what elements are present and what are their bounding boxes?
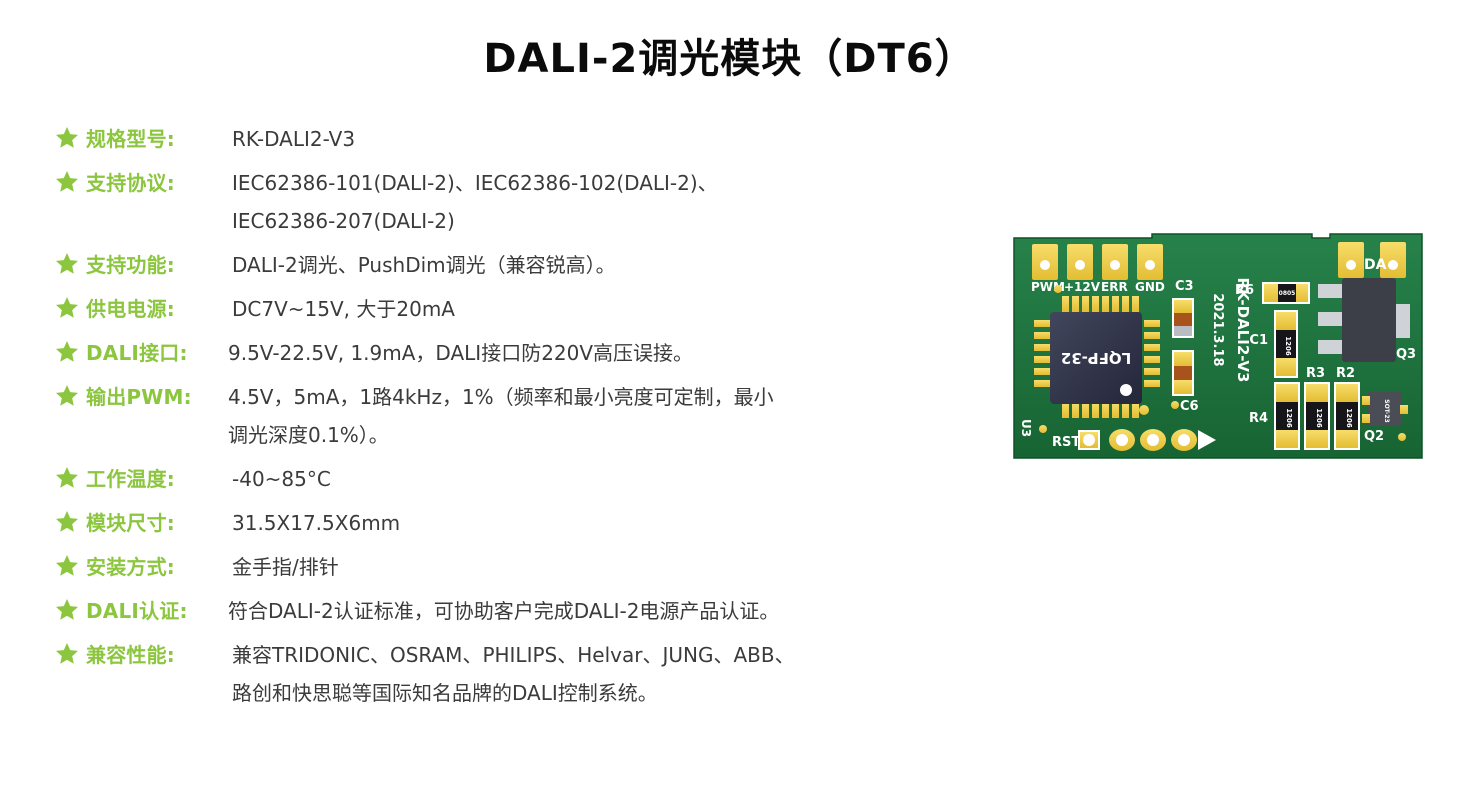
spec-row: 工作温度: -40~85°C (56, 464, 986, 494)
spec-value-line1: -40~85°C (232, 467, 331, 491)
spec-value-line1: 9.5V-22.5V, 1.9mA，DALI接口防220V高压误接。 (228, 341, 693, 365)
spec-row: DALI认证: 符合DALI-2认证标准，可协助客户完成DALI-2电源产品认证… (56, 596, 986, 626)
spec-label: DALI认证: (86, 596, 232, 626)
pcb-res-r4: 1206 (1274, 382, 1300, 450)
pcb-silk-q3: Q3 (1396, 347, 1416, 362)
spec-value-line1: 4.5V，5mA，1路4kHz，1%（频率和最小亮度可定制，最小 (228, 385, 774, 409)
star-icon (56, 552, 86, 576)
pcb-silk-rst: RST (1052, 435, 1080, 450)
pcb-silk-r2: R2 (1336, 366, 1355, 381)
spec-value: 金手指/排针 (232, 552, 986, 582)
pcb-silk-q2: Q2 (1364, 429, 1384, 444)
spec-label: 供电电源: (86, 294, 232, 324)
pcb-cap-c1: 1206 (1274, 310, 1298, 378)
pcb-silk-gnd: GND (1135, 280, 1165, 294)
pcb-board-image: PWM +12V ERR GND DA (1012, 232, 1424, 466)
spec-label: 模块尺寸: (86, 508, 232, 538)
page-title: DALI-2调光模块（DT6） (0, 26, 1459, 84)
pcb-silk-chip: LQFP-32 (1061, 349, 1131, 367)
spec-value: DC7V~15V, 大于20mA (232, 294, 986, 324)
star-icon (56, 382, 86, 406)
star-icon (56, 124, 86, 148)
spec-value: IEC62386-101(DALI-2)、IEC62386-102(DALI-2… (232, 168, 986, 236)
pcb-cap-c3 (1172, 298, 1194, 338)
star-icon (56, 508, 86, 532)
pcb-silk-sot23: SOT-23 (1383, 399, 1390, 422)
spec-value-line1: 金手指/排针 (232, 555, 339, 579)
spec-value-line1: RK-DALI2-V3 (232, 127, 355, 151)
pcb-silk-r3: R3 (1306, 366, 1325, 381)
specification-list: 规格型号: RK-DALI2-V3 支持协议: IEC62386-101(DAL… (56, 124, 986, 722)
spec-value-line1: 符合DALI-2认证标准，可协助客户完成DALI-2电源产品认证。 (228, 599, 779, 623)
spec-label: DALI接口: (86, 338, 232, 368)
pcb-cap-c6 (1172, 350, 1194, 396)
pcb-res-r6: 0805 (1262, 282, 1310, 304)
spec-row: 支持协议: IEC62386-101(DALI-2)、IEC62386-102(… (56, 168, 986, 236)
star-icon (56, 640, 86, 664)
star-icon (56, 168, 86, 192)
pcb-silk-board-date: 2021.3.18 (1210, 293, 1225, 366)
spec-label: 安装方式: (86, 552, 232, 582)
pcb-silk-1206-r3: 1206 (1315, 408, 1323, 428)
pcb-res-r2: 1206 (1334, 382, 1360, 450)
pcb-chip-lqfp32: LQFP-32 (1034, 296, 1160, 418)
spec-label: 输出PWM: (86, 382, 232, 412)
product-spec-page: DALI-2调光模块（DT6） 规格型号: RK-DALI2-V3 支持协议: … (0, 0, 1459, 792)
pcb-res-r3: 1206 (1304, 382, 1330, 450)
pcb-silk-1206-r2: 1206 (1345, 408, 1353, 428)
spec-value-line1: DALI-2调光、PushDim调光（兼容锐高）。 (232, 253, 616, 277)
pcb-silk-1206-r4: 1206 (1285, 408, 1293, 428)
spec-label: 工作温度: (86, 464, 232, 494)
pcb-silk-1206-c1: 1206 (1284, 336, 1292, 356)
spec-value-line2: 路创和快思聪等国际知名品牌的DALI控制系统。 (232, 678, 986, 708)
spec-value: 9.5V-22.5V, 1.9mA，DALI接口防220V高压误接。 (228, 338, 986, 368)
spec-value-line1: 兼容TRIDONIC、OSRAM、PHILIPS、Helvar、JUNG、ABB… (232, 643, 795, 667)
spec-value-line1: DC7V~15V, 大于20mA (232, 297, 455, 321)
pcb-transistor-q2: SOT-23 (1362, 392, 1408, 426)
spec-value-line1: 31.5X17.5X6mm (232, 511, 400, 535)
spec-value-line2: 调光深度0.1%）。 (228, 420, 986, 450)
spec-row: 供电电源: DC7V~15V, 大于20mA (56, 294, 986, 324)
pcb-silk-u3: U3 (1019, 419, 1033, 437)
spec-value: 符合DALI-2认证标准，可协助客户完成DALI-2电源产品认证。 (228, 596, 986, 626)
spec-label: 支持协议: (86, 168, 232, 198)
pcb-silk-0805: 0805 (1279, 290, 1296, 297)
spec-value: 4.5V，5mA，1路4kHz，1%（频率和最小亮度可定制，最小 调光深度0.1… (228, 382, 986, 450)
spec-label: 兼容性能: (86, 640, 232, 670)
star-icon (56, 250, 86, 274)
pcb-silk-r4: R4 (1249, 411, 1268, 426)
pcb-silk-12v: +12V (1064, 280, 1101, 294)
spec-value-line1: IEC62386-101(DALI-2)、IEC62386-102(DALI-2… (232, 171, 718, 195)
pcb-silk-c6: C6 (1180, 399, 1199, 414)
pcb-silk-c1: C1 (1249, 333, 1268, 348)
spec-value: DALI-2调光、PushDim调光（兼容锐高）。 (232, 250, 986, 280)
spec-row: 规格型号: RK-DALI2-V3 (56, 124, 986, 154)
spec-row: 支持功能: DALI-2调光、PushDim调光（兼容锐高）。 (56, 250, 986, 280)
spec-value-line2: IEC62386-207(DALI-2) (232, 206, 986, 236)
spec-value: 31.5X17.5X6mm (232, 508, 986, 538)
spec-row: 输出PWM: 4.5V，5mA，1路4kHz，1%（频率和最小亮度可定制，最小 … (56, 382, 986, 450)
spec-value: RK-DALI2-V3 (232, 124, 986, 154)
pcb-silk-r6: R6 (1235, 283, 1254, 298)
spec-label: 支持功能: (86, 250, 232, 280)
star-icon (56, 294, 86, 318)
star-icon (56, 596, 86, 620)
star-icon (56, 464, 86, 488)
spec-row: 安装方式: 金手指/排针 (56, 552, 986, 582)
spec-value: -40~85°C (232, 464, 986, 494)
pcb-silk-da: DA (1364, 257, 1387, 273)
spec-row: 模块尺寸: 31.5X17.5X6mm (56, 508, 986, 538)
spec-value: 兼容TRIDONIC、OSRAM、PHILIPS、Helvar、JUNG、ABB… (232, 640, 986, 708)
spec-row: DALI接口: 9.5V-22.5V, 1.9mA，DALI接口防220V高压误… (56, 338, 986, 368)
pcb-silk-c3: C3 (1175, 279, 1194, 294)
spec-row: 兼容性能: 兼容TRIDONIC、OSRAM、PHILIPS、Helvar、JU… (56, 640, 986, 708)
spec-label: 规格型号: (86, 124, 232, 154)
star-icon (56, 338, 86, 362)
pcb-silk-err: ERR (1101, 280, 1128, 294)
